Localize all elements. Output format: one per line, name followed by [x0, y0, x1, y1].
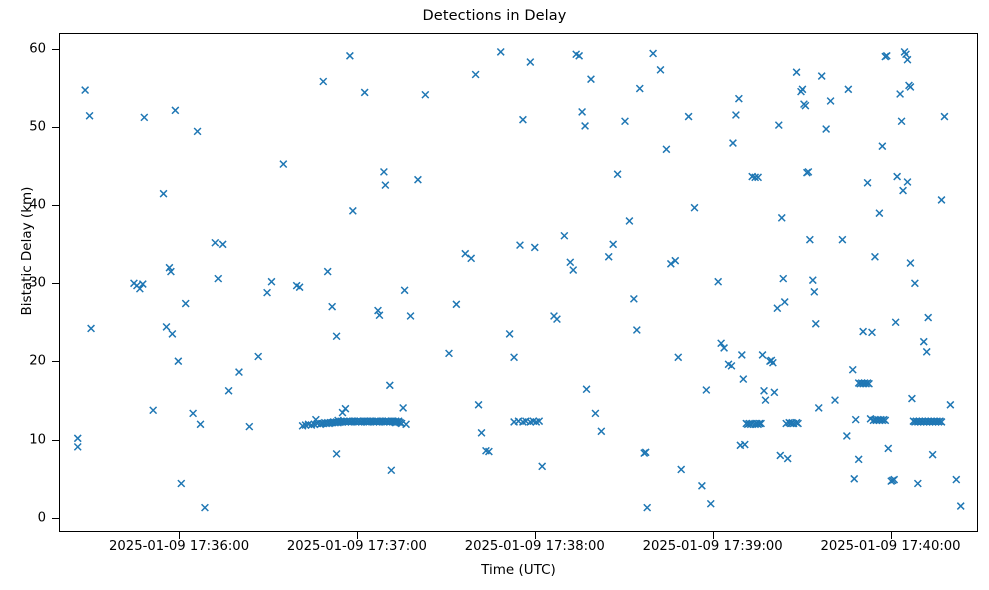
scatter-marker: [740, 376, 747, 383]
scatter-marker: [246, 423, 253, 430]
scatter-marker: [511, 354, 518, 361]
scatter-marker: [914, 480, 921, 487]
y-tick-label: 50: [29, 119, 46, 134]
scatter-marker: [86, 112, 93, 119]
scatter-marker: [733, 112, 740, 119]
scatter-marker: [588, 76, 595, 83]
scatter-marker: [163, 324, 170, 331]
scatter-marker: [150, 407, 157, 414]
scatter-marker: [415, 176, 422, 183]
scatter-marker: [852, 416, 859, 423]
scatter-marker: [388, 467, 395, 474]
scatter-marker: [598, 428, 605, 435]
scatter-marker: [941, 113, 948, 120]
x-tick-mark: [535, 532, 536, 539]
scatter-marker: [74, 435, 81, 442]
y-tick-label: 60: [29, 41, 46, 56]
scatter-marker: [894, 173, 901, 180]
scatter-marker: [342, 405, 349, 412]
y-tick-label: 30: [29, 276, 46, 291]
y-tick-mark: [52, 127, 59, 128]
y-tick-label: 40: [29, 198, 46, 213]
scatter-marker: [900, 187, 907, 194]
scatter-marker: [520, 116, 527, 123]
scatter-marker: [869, 329, 876, 336]
scatter-marker: [644, 504, 651, 511]
scatter-marker: [236, 369, 243, 376]
scatter-marker: [815, 405, 822, 412]
scatter-marker: [904, 179, 911, 186]
scatter-marker: [453, 301, 460, 308]
scatter-marker: [320, 78, 327, 85]
scatter-marker: [799, 86, 806, 93]
scatter-marker: [663, 146, 670, 153]
figure-canvas: Detections in Delay Bistatic Delay (km) …: [0, 0, 989, 590]
y-tick-mark: [52, 361, 59, 362]
y-tick-mark: [52, 205, 59, 206]
scatter-marker: [872, 253, 879, 260]
scatter-marker: [741, 441, 748, 448]
scatter-marker: [636, 85, 643, 92]
scatter-marker: [707, 500, 714, 507]
scatter-marker: [225, 387, 232, 394]
chart-title: Detections in Delay: [0, 8, 989, 24]
scatter-marker: [475, 401, 482, 408]
scatter-marker: [468, 255, 475, 262]
scatter-marker: [583, 386, 590, 393]
scatter-marker: [957, 503, 964, 510]
scatter-marker: [703, 387, 710, 394]
scatter-marker: [784, 455, 791, 462]
scatter-marker: [672, 257, 679, 264]
scatter-marker: [771, 389, 778, 396]
scatter-marker: [506, 331, 513, 338]
scatter-marker: [264, 289, 271, 296]
scatter-marker: [650, 50, 657, 57]
scatter-marker: [280, 161, 287, 168]
scatter-marker: [333, 450, 340, 457]
x-axis-label: Time (UTC): [59, 562, 978, 578]
scatter-marker: [811, 288, 818, 295]
scatter-marker: [657, 66, 664, 73]
x-tick-label: 2025-01-09 17:38:00: [465, 539, 605, 554]
scatter-marker: [947, 401, 954, 408]
scatter-marker: [82, 87, 89, 94]
scatter-marker: [762, 397, 769, 404]
scatter-marker: [806, 236, 813, 243]
y-tick-mark: [52, 518, 59, 519]
scatter-marker: [904, 56, 911, 63]
scatter-marker: [775, 122, 782, 129]
scatter-marker: [823, 126, 830, 133]
scatter-marker: [774, 305, 781, 312]
scatter-marker: [403, 421, 410, 428]
y-tick-label: 10: [29, 432, 46, 447]
y-axis-tick-labels: 0102030405060: [0, 0, 46, 590]
scatter-marker: [953, 476, 960, 483]
scatter-marker: [422, 91, 429, 98]
scatter-marker: [349, 207, 356, 214]
scatter-marker: [554, 316, 561, 323]
x-tick-label: 2025-01-09 17:39:00: [643, 539, 783, 554]
scatter-marker: [832, 397, 839, 404]
x-tick-mark: [357, 532, 358, 539]
scatter-marker: [923, 348, 930, 355]
y-tick-label: 20: [29, 354, 46, 369]
scatter-marker: [462, 250, 469, 257]
scatter-marker: [570, 267, 577, 274]
scatter-marker: [472, 71, 479, 78]
scatter-marker: [876, 210, 883, 217]
scatter-marker: [219, 241, 226, 248]
scatter-marker: [812, 320, 819, 327]
scatter-marker: [561, 232, 568, 239]
x-tick-label: 2025-01-09 17:36:00: [109, 539, 249, 554]
scatter-marker: [197, 421, 204, 428]
scatter-marker: [759, 352, 766, 359]
scatter-marker: [903, 51, 910, 58]
scatter-marker: [582, 123, 589, 130]
plot-area: [59, 33, 978, 532]
scatter-marker: [630, 295, 637, 302]
scatter-marker: [929, 451, 936, 458]
scatter-marker: [400, 405, 407, 412]
scatter-marker: [175, 358, 182, 365]
scatter-marker: [160, 190, 167, 197]
x-tick-mark: [891, 532, 892, 539]
scatter-marker: [579, 109, 586, 116]
scatter-marker: [897, 91, 904, 98]
scatter-marker: [843, 433, 850, 440]
x-tick-mark: [713, 532, 714, 539]
scatter-marker: [879, 143, 886, 150]
scatter-marker: [333, 333, 340, 340]
y-tick-mark: [52, 49, 59, 50]
scatter-marker: [382, 182, 389, 189]
x-tick-label: 2025-01-09 17:40:00: [821, 539, 961, 554]
scatter-marker: [88, 325, 95, 332]
scatter-marker: [738, 352, 745, 359]
scatter-marker: [907, 260, 914, 267]
scatter-marker: [178, 480, 185, 487]
scatter-marker: [610, 241, 617, 248]
scatter-marker: [938, 197, 945, 204]
scatter-marker: [780, 275, 787, 282]
scatter-marker: [517, 242, 524, 249]
scatter-marker: [361, 89, 368, 96]
scatter-marker: [626, 218, 633, 225]
scatter-marker: [849, 366, 856, 373]
scatter-marker: [539, 463, 546, 470]
scatter-marker: [675, 354, 682, 361]
scatter-marker: [478, 429, 485, 436]
scatter-marker: [667, 260, 674, 267]
scatter-marker: [920, 338, 927, 345]
scatter-marker: [141, 114, 148, 121]
scatter-marker: [215, 275, 222, 282]
scatter-marker: [851, 475, 858, 482]
scatter-marker: [864, 179, 871, 186]
scatter-marker: [407, 313, 414, 320]
scatter-marker: [781, 299, 788, 306]
scatter-marker: [730, 140, 737, 147]
scatter-marker: [202, 504, 209, 511]
scatter-points-layer: [60, 34, 977, 531]
scatter-marker: [845, 86, 852, 93]
scatter-marker: [401, 287, 408, 294]
scatter-marker: [527, 59, 534, 66]
scatter-marker: [74, 443, 81, 450]
y-tick-mark: [52, 440, 59, 441]
scatter-marker: [614, 171, 621, 178]
scatter-marker: [622, 118, 629, 125]
scatter-marker: [885, 445, 892, 452]
y-tick-label: 0: [38, 510, 46, 525]
x-tick-label: 2025-01-09 17:37:00: [287, 539, 427, 554]
scatter-marker: [735, 95, 742, 102]
scatter-marker: [497, 49, 504, 56]
scatter-marker: [346, 52, 353, 59]
scatter-marker: [685, 113, 692, 120]
scatter-marker: [909, 395, 916, 402]
scatter-marker: [777, 452, 784, 459]
scatter-marker: [839, 236, 846, 243]
scatter-marker: [778, 214, 785, 221]
scatter-marker: [860, 328, 867, 335]
scatter-marker: [827, 98, 834, 105]
scatter-marker: [446, 350, 453, 357]
scatter-marker: [169, 331, 176, 338]
scatter-marker: [329, 303, 336, 310]
scatter-marker: [809, 277, 816, 284]
scatter-marker: [925, 314, 932, 321]
scatter-marker: [911, 280, 918, 287]
scatter-marker: [855, 456, 862, 463]
scatter-marker: [699, 482, 706, 489]
scatter-marker: [190, 410, 197, 417]
scatter-marker: [793, 69, 800, 76]
scatter-marker: [678, 466, 685, 473]
scatter-marker: [605, 253, 612, 260]
scatter-marker: [898, 118, 905, 125]
scatter-marker: [386, 382, 393, 389]
scatter-marker: [182, 300, 189, 307]
scatter-marker: [194, 128, 201, 135]
scatter-marker: [324, 268, 331, 275]
y-tick-mark: [52, 283, 59, 284]
scatter-marker: [715, 278, 722, 285]
scatter-marker: [268, 278, 275, 285]
scatter-marker: [818, 73, 825, 80]
scatter-marker: [761, 387, 768, 394]
scatter-marker: [172, 107, 179, 114]
scatter-marker: [567, 259, 574, 266]
scatter-marker: [892, 319, 899, 326]
scatter-marker: [255, 353, 262, 360]
scatter-marker: [531, 244, 538, 251]
scatter-marker: [633, 327, 640, 334]
scatter-marker: [212, 239, 219, 246]
scatter-marker: [691, 204, 698, 211]
x-tick-mark: [179, 532, 180, 539]
scatter-marker: [381, 168, 388, 175]
scatter-marker: [592, 410, 599, 417]
